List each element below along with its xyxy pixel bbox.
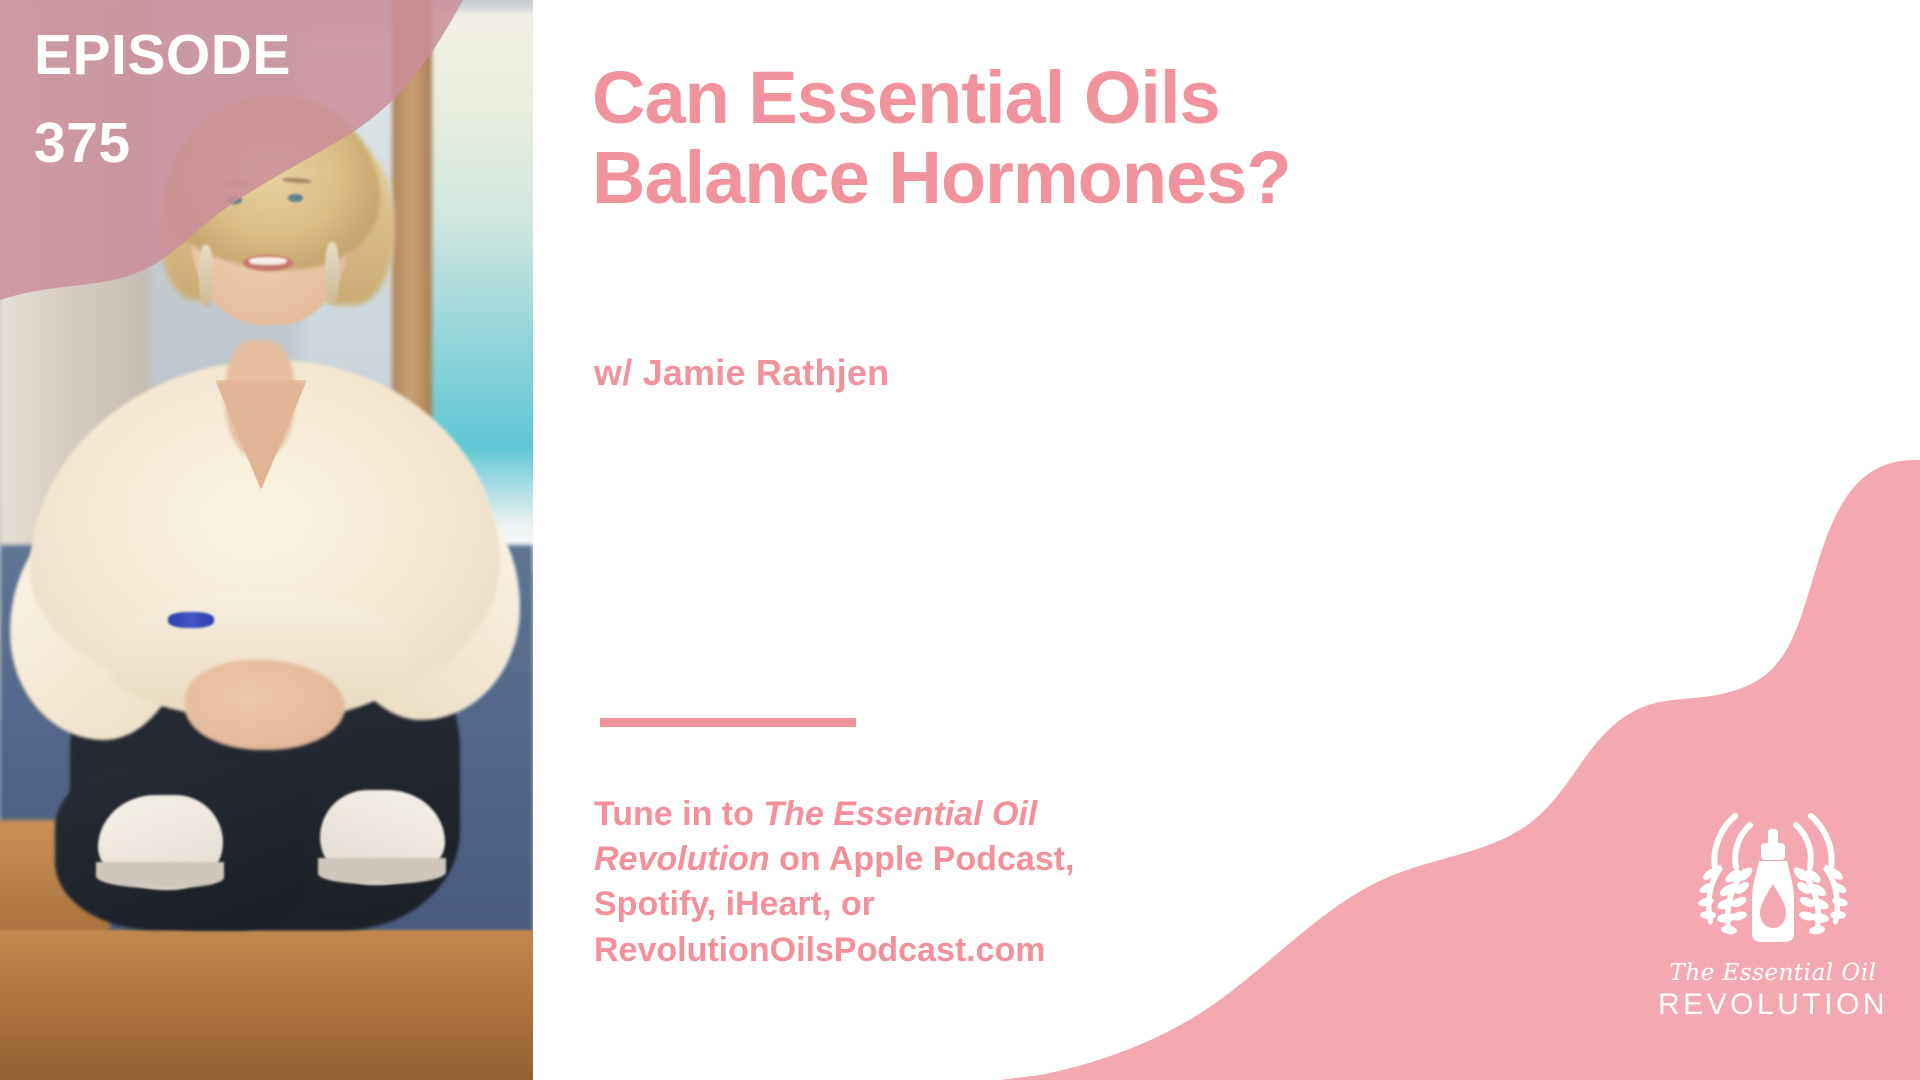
page-title: Can Essential Oils Balance Hormones? [592,58,1422,218]
cta-website-link[interactable]: RevolutionOilsPodcast.com [594,931,1046,969]
episode-word: EPISODE [34,28,334,84]
guest-credit: w/ Jamie Rathjen [594,352,889,394]
title-line-2: Balance Hormones? [592,138,1422,218]
episode-number: 375 [34,116,334,172]
title-line-1: Can Essential Oils [592,58,1422,138]
logo-wordmark: REVOLUTION [1648,988,1898,1022]
section-divider [600,718,856,727]
oil-bottle-broadcast-icon [1680,812,1866,962]
podcast-logo: The Essential Oil REVOLUTION [1648,812,1898,1052]
cta-lead-text: Tune in to [594,795,763,833]
logo-script-text: The Essential Oil [1648,960,1898,986]
episode-label-block: EPISODE 375 [34,28,334,172]
listen-call-to-action: Tune in to The Essential Oil Revolution … [594,792,1194,973]
episode-graphic-canvas: EPISODE 375 Can Essential Oils Balance H… [0,0,1920,1080]
content-column: Can Essential Oils Balance Hormones? w/ … [592,0,1432,1080]
